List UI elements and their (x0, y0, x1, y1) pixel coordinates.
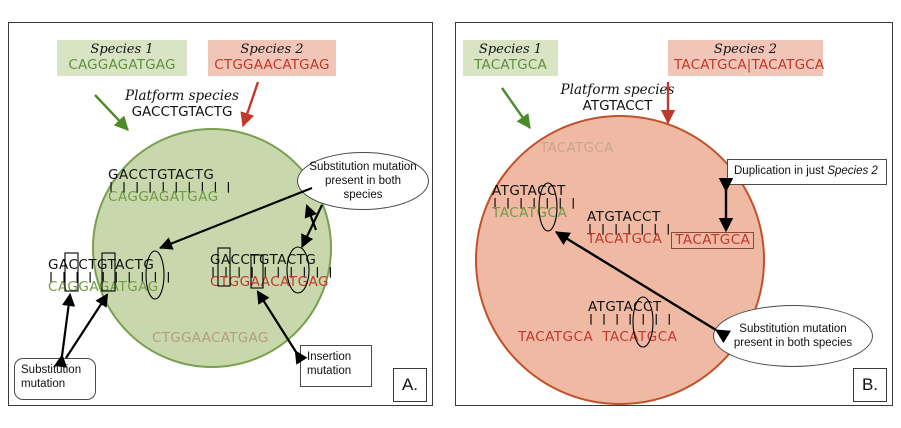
panel-b-duplication-text: Duplication in just (734, 165, 827, 177)
panel-b-species2-title: Species 2 (674, 42, 817, 57)
panel-b-letter: B. (853, 368, 887, 402)
panel-a-species1-box: Species 1 CAGGAGATGAG (57, 40, 187, 76)
panel-a-alignment-top: GACCTGTACTG | | | | | | | | | | CAGGAGAT… (108, 168, 233, 205)
panel-b-species2-box: Species 2 TACATGCA|TACATGCA (668, 40, 823, 76)
panel-b-alignment-upper-left: ATGTACCT | | | | | | | TACATGCA (492, 184, 578, 221)
panel-a-species1-title: Species 1 (63, 42, 181, 57)
panel-b-species-circle (475, 115, 765, 405)
figure-canvas: CTGGAACATGAG TACATGCA Species 1 CAGGAGAT… (0, 0, 901, 428)
panel-b-platform-title: Platform species (530, 82, 705, 98)
panel-a-species1-sequence: CAGGAGATGAG (63, 57, 181, 73)
panel-b-bottom-seq-right: TACATGCA (602, 330, 677, 345)
panel-b-callout-substitution-both: Substitution mutation present in both sp… (713, 305, 873, 367)
panel-a-species2-box: Species 2 CTGGAACATGAG (208, 40, 336, 76)
panel-a-alignment-lower-left: GACCTGTACTG | | | | | | | | | | CAGGAGAT… (48, 258, 173, 295)
panel-a-platform-sequence: GACCTGTACTG (92, 104, 272, 120)
panel-b-ghost-sequence: TACATGCA (540, 140, 614, 156)
panel-a-platform-title: Platform species (92, 88, 272, 104)
panel-a-species2-title: Species 2 (214, 42, 330, 57)
panel-b-duplication-species: Species 2 (827, 165, 878, 177)
panel-a-callout-substitution-both: Substitution mutation present in both sp… (297, 152, 429, 210)
panel-a-species2-sequence: CTGGAACATGAG (214, 57, 330, 73)
panel-b-platform-label: Platform species ATGTACCT (530, 82, 705, 114)
panel-a-letter: A. (393, 368, 427, 402)
panel-b-bottom-seq-left: TACATGCA (518, 330, 593, 345)
panel-b-species1-sequence: TACATGCA (469, 57, 552, 73)
panel-b-alignment-bottom-top: ATGTACCT | | | | | | | (588, 300, 674, 322)
panel-b-duplication-highlight: TACATGCA (671, 232, 754, 249)
panel-b-species1-box: Species 1 TACATGCA (463, 40, 558, 76)
panel-a-ghost-sequence: CTGGAACATGAG (152, 330, 269, 346)
panel-b-alignment-middle: ATGTACCT | | | | | | | TACATGCA TACATGCA (587, 210, 754, 249)
panel-b-species2-sequence: TACATGCA|TACATGCA (674, 57, 817, 73)
panel-b-platform-sequence: ATGTACCT (530, 98, 705, 114)
panel-a-callout-insertion: Insertion mutation (300, 345, 372, 387)
panel-b-callout-duplication: Duplication in just Species 2 (727, 159, 887, 185)
panel-b-species1-title: Species 1 (469, 42, 552, 57)
panel-a-alignment-lower-right: GACCTGTACTG | | | | | | | | | | CTGGAACA… (210, 253, 335, 290)
panel-a-callout-substitution: Substitution mutation (14, 358, 96, 400)
panel-a-platform-label: Platform species GACCTGTACTG (92, 88, 272, 120)
panel-b-alignment-bottom-row: TACATGCA TACATGCA (518, 330, 677, 345)
panel-b-middle-bottom-seq: TACATGCA (587, 232, 662, 249)
